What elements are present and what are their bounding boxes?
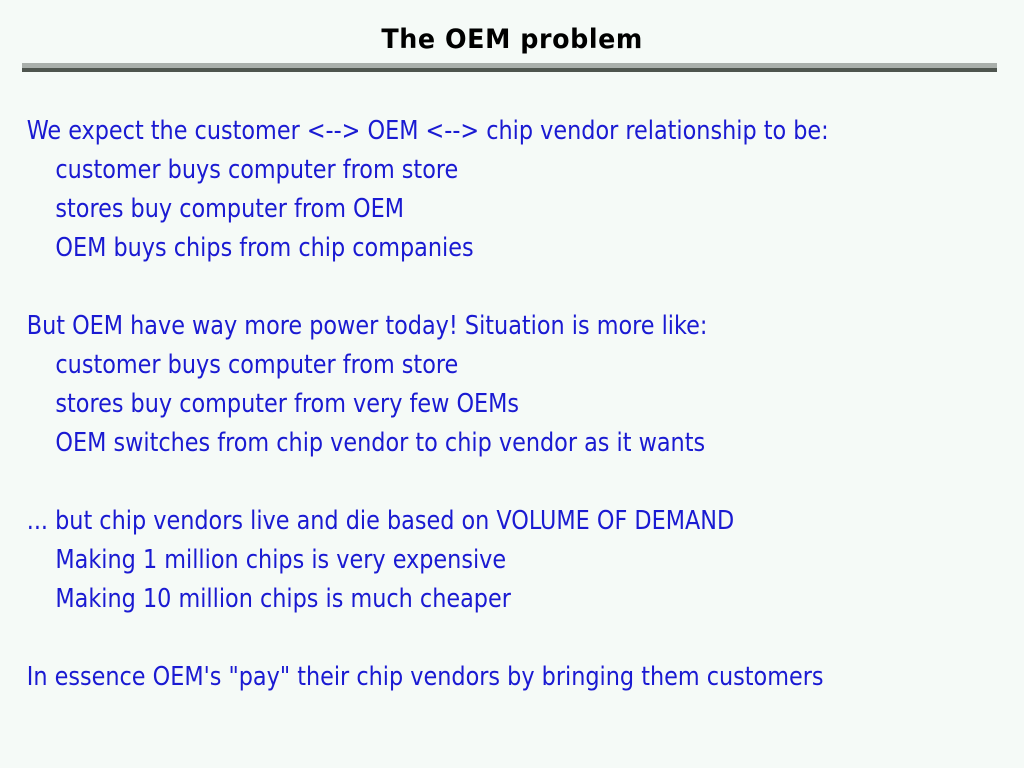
spacer-line bbox=[0, 463, 978, 502]
body-sub-line: Making 1 million chips is very expensive bbox=[0, 541, 978, 580]
body-sub-line: Making 10 million chips is much cheaper bbox=[0, 580, 978, 619]
slide-title-block: The OEM problem bbox=[0, 24, 1024, 56]
body-line: In essence OEM's "pay" their chip vendor… bbox=[0, 658, 978, 697]
page-title: The OEM problem bbox=[381, 24, 643, 56]
body-line: We expect the customer <--> OEM <--> chi… bbox=[0, 112, 978, 151]
body-line: ... but chip vendors live and die based … bbox=[0, 502, 978, 541]
title-divider bbox=[22, 63, 997, 72]
body-sub-line: customer buys computer from store bbox=[0, 151, 978, 190]
spacer-line bbox=[0, 619, 978, 658]
body-sub-line: stores buy computer from very few OEMs bbox=[0, 385, 978, 424]
body-sub-line: stores buy computer from OEM bbox=[0, 190, 978, 229]
spacer-line bbox=[0, 268, 978, 307]
body-line: But OEM have way more power today! Situa… bbox=[0, 307, 978, 346]
slide-canvas: The OEM problem We expect the customer <… bbox=[0, 0, 1024, 768]
body-sub-line: OEM switches from chip vendor to chip ve… bbox=[0, 424, 978, 463]
body-sub-line: customer buys computer from store bbox=[0, 346, 978, 385]
slide-body: We expect the customer <--> OEM <--> chi… bbox=[0, 112, 1024, 697]
body-sub-line: OEM buys chips from chip companies bbox=[0, 229, 978, 268]
divider-shadow bbox=[22, 68, 997, 72]
